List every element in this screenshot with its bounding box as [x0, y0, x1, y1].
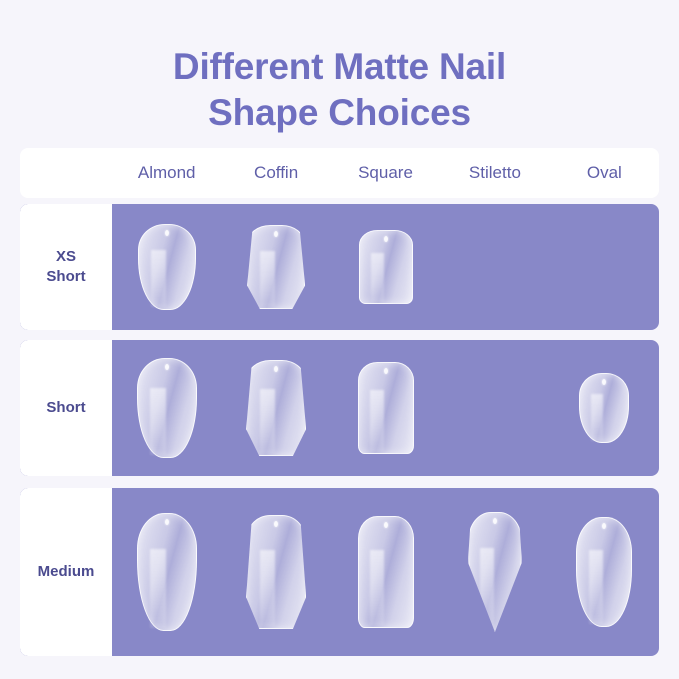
nail-sheen [480, 548, 494, 628]
nail-coffin-medium [246, 515, 306, 629]
column-header-coffin: Coffin [221, 163, 330, 183]
nail-square-medium [358, 516, 414, 628]
size-label-xs-short: XS Short [20, 204, 112, 330]
column-header-square: Square [331, 163, 440, 183]
size-label-medium: Medium [20, 488, 112, 656]
page-title-line-1: Different Matte Nail [0, 44, 679, 90]
column-header-almond: Almond [112, 163, 221, 183]
nail-oval-medium [576, 517, 632, 627]
size-label-line-1: XS [56, 247, 76, 267]
nail-oval-short [579, 373, 629, 443]
nail-cells-medium [112, 488, 659, 656]
size-row-xs-short: XS Short [20, 204, 659, 330]
size-label-line-2: Short [46, 267, 85, 287]
nail-cells-xs-short [112, 204, 659, 330]
size-label-short: Short [20, 340, 112, 476]
nail-sheen [591, 394, 603, 440]
cell-xs-stiletto [440, 204, 549, 330]
nail-cells-short [112, 340, 659, 476]
nail-sheen [150, 549, 165, 628]
cell-medium-oval [550, 488, 659, 656]
nail-almond-xs [138, 224, 196, 310]
page-title: Different Matte Nail Shape Choices [0, 0, 679, 136]
nail-stiletto-medium [468, 512, 522, 632]
cell-short-coffin [221, 340, 330, 476]
cell-xs-almond [112, 204, 221, 330]
nail-sheen [150, 388, 165, 455]
cell-short-almond [112, 340, 221, 476]
nail-square-xs [359, 230, 413, 304]
nail-sheen [589, 550, 603, 623]
nail-coffin-xs [247, 225, 305, 309]
shape-header-row: Almond Coffin Square Stiletto Oval [20, 148, 659, 198]
nail-coffin-short [246, 360, 306, 456]
cell-xs-oval [550, 204, 659, 330]
nail-sheen [260, 251, 275, 307]
page-title-line-2: Shape Choices [0, 90, 679, 136]
size-row-medium: Medium [20, 488, 659, 656]
size-label-line-1: Short [46, 398, 85, 418]
cell-xs-square [331, 204, 440, 330]
nail-sheen [371, 253, 385, 302]
cell-medium-square [331, 488, 440, 656]
cell-medium-coffin [221, 488, 330, 656]
cell-medium-almond [112, 488, 221, 656]
cell-xs-coffin [221, 204, 330, 330]
cell-medium-stiletto [440, 488, 549, 656]
nail-sheen [260, 550, 275, 626]
size-label-line-1: Medium [38, 562, 95, 582]
cell-short-oval [550, 340, 659, 476]
nail-sheen [260, 389, 275, 453]
nail-shape-chart: Different Matte Nail Shape Choices Almon… [0, 0, 679, 679]
size-row-short: Short [20, 340, 659, 476]
cell-short-square [331, 340, 440, 476]
nail-sheen [151, 250, 166, 307]
nail-sheen [370, 550, 384, 625]
nail-almond-medium [137, 513, 197, 631]
cell-short-stiletto [440, 340, 549, 476]
nail-square-short [358, 362, 414, 454]
nail-almond-short [137, 358, 197, 458]
nail-sheen [370, 390, 384, 451]
column-header-stiletto: Stiletto [440, 163, 549, 183]
column-header-oval: Oval [550, 163, 659, 183]
